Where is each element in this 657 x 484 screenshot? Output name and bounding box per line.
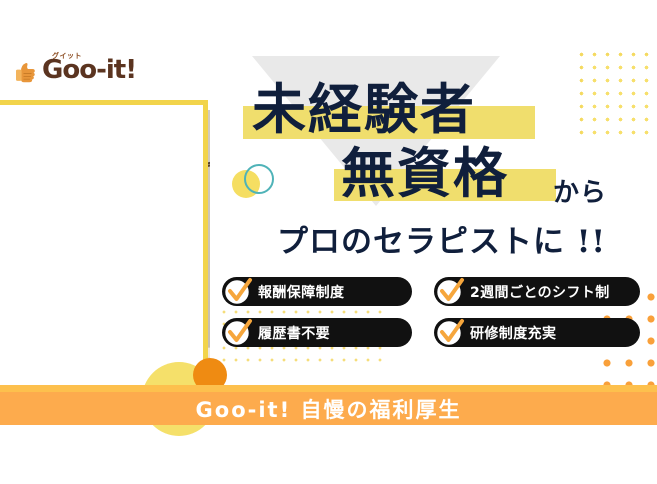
thumbs-up-icon [14,60,40,86]
circle-pair-decoration [232,164,278,206]
feature-badge-3[interactable]: 履歴書不要 [222,318,412,347]
teal-ring-icon [244,164,274,194]
feature-badge-2[interactable]: 2週間ごとのシフト制 [434,277,640,306]
check-circle-icon [221,275,254,308]
headline-line-2: 無資格 [341,146,509,200]
headline-line-3: プロのセラピストに !! [277,216,606,261]
banner-accent-strip [0,385,657,392]
check-circle-icon [433,275,466,308]
brand-logo[interactable]: グイット Goo-it! [14,52,118,92]
headline-line-2-suffix: から [553,172,607,209]
feature-badge-1-label: 報酬保障制度 [258,282,344,302]
feature-badge-4[interactable]: 研修制度充実 [434,318,640,347]
logo-wordmark: Goo-it! [42,57,136,83]
photo-frame-border [0,100,208,398]
dot-grid-decoration-secondary [582,55,652,139]
check-circle-icon [221,316,254,349]
promo-banner-canvas: 未経験者 無資格 から プロのセラピストに !! [0,0,657,484]
feature-badge-2-label: 2週間ごとのシフト制 [470,282,610,302]
feature-badge-4-label: 研修制度充実 [470,323,556,343]
headline-line-1: 未経験者 [252,82,476,136]
feature-badge-1[interactable]: 報酬保障制度 [222,277,412,306]
dot-grid-decoration [575,48,653,140]
feature-badge-3-label: 履歴書不要 [258,323,330,343]
bottom-banner-text: Goo-it! 自慢の福利厚生 [0,392,657,425]
check-circle-icon [433,316,466,349]
